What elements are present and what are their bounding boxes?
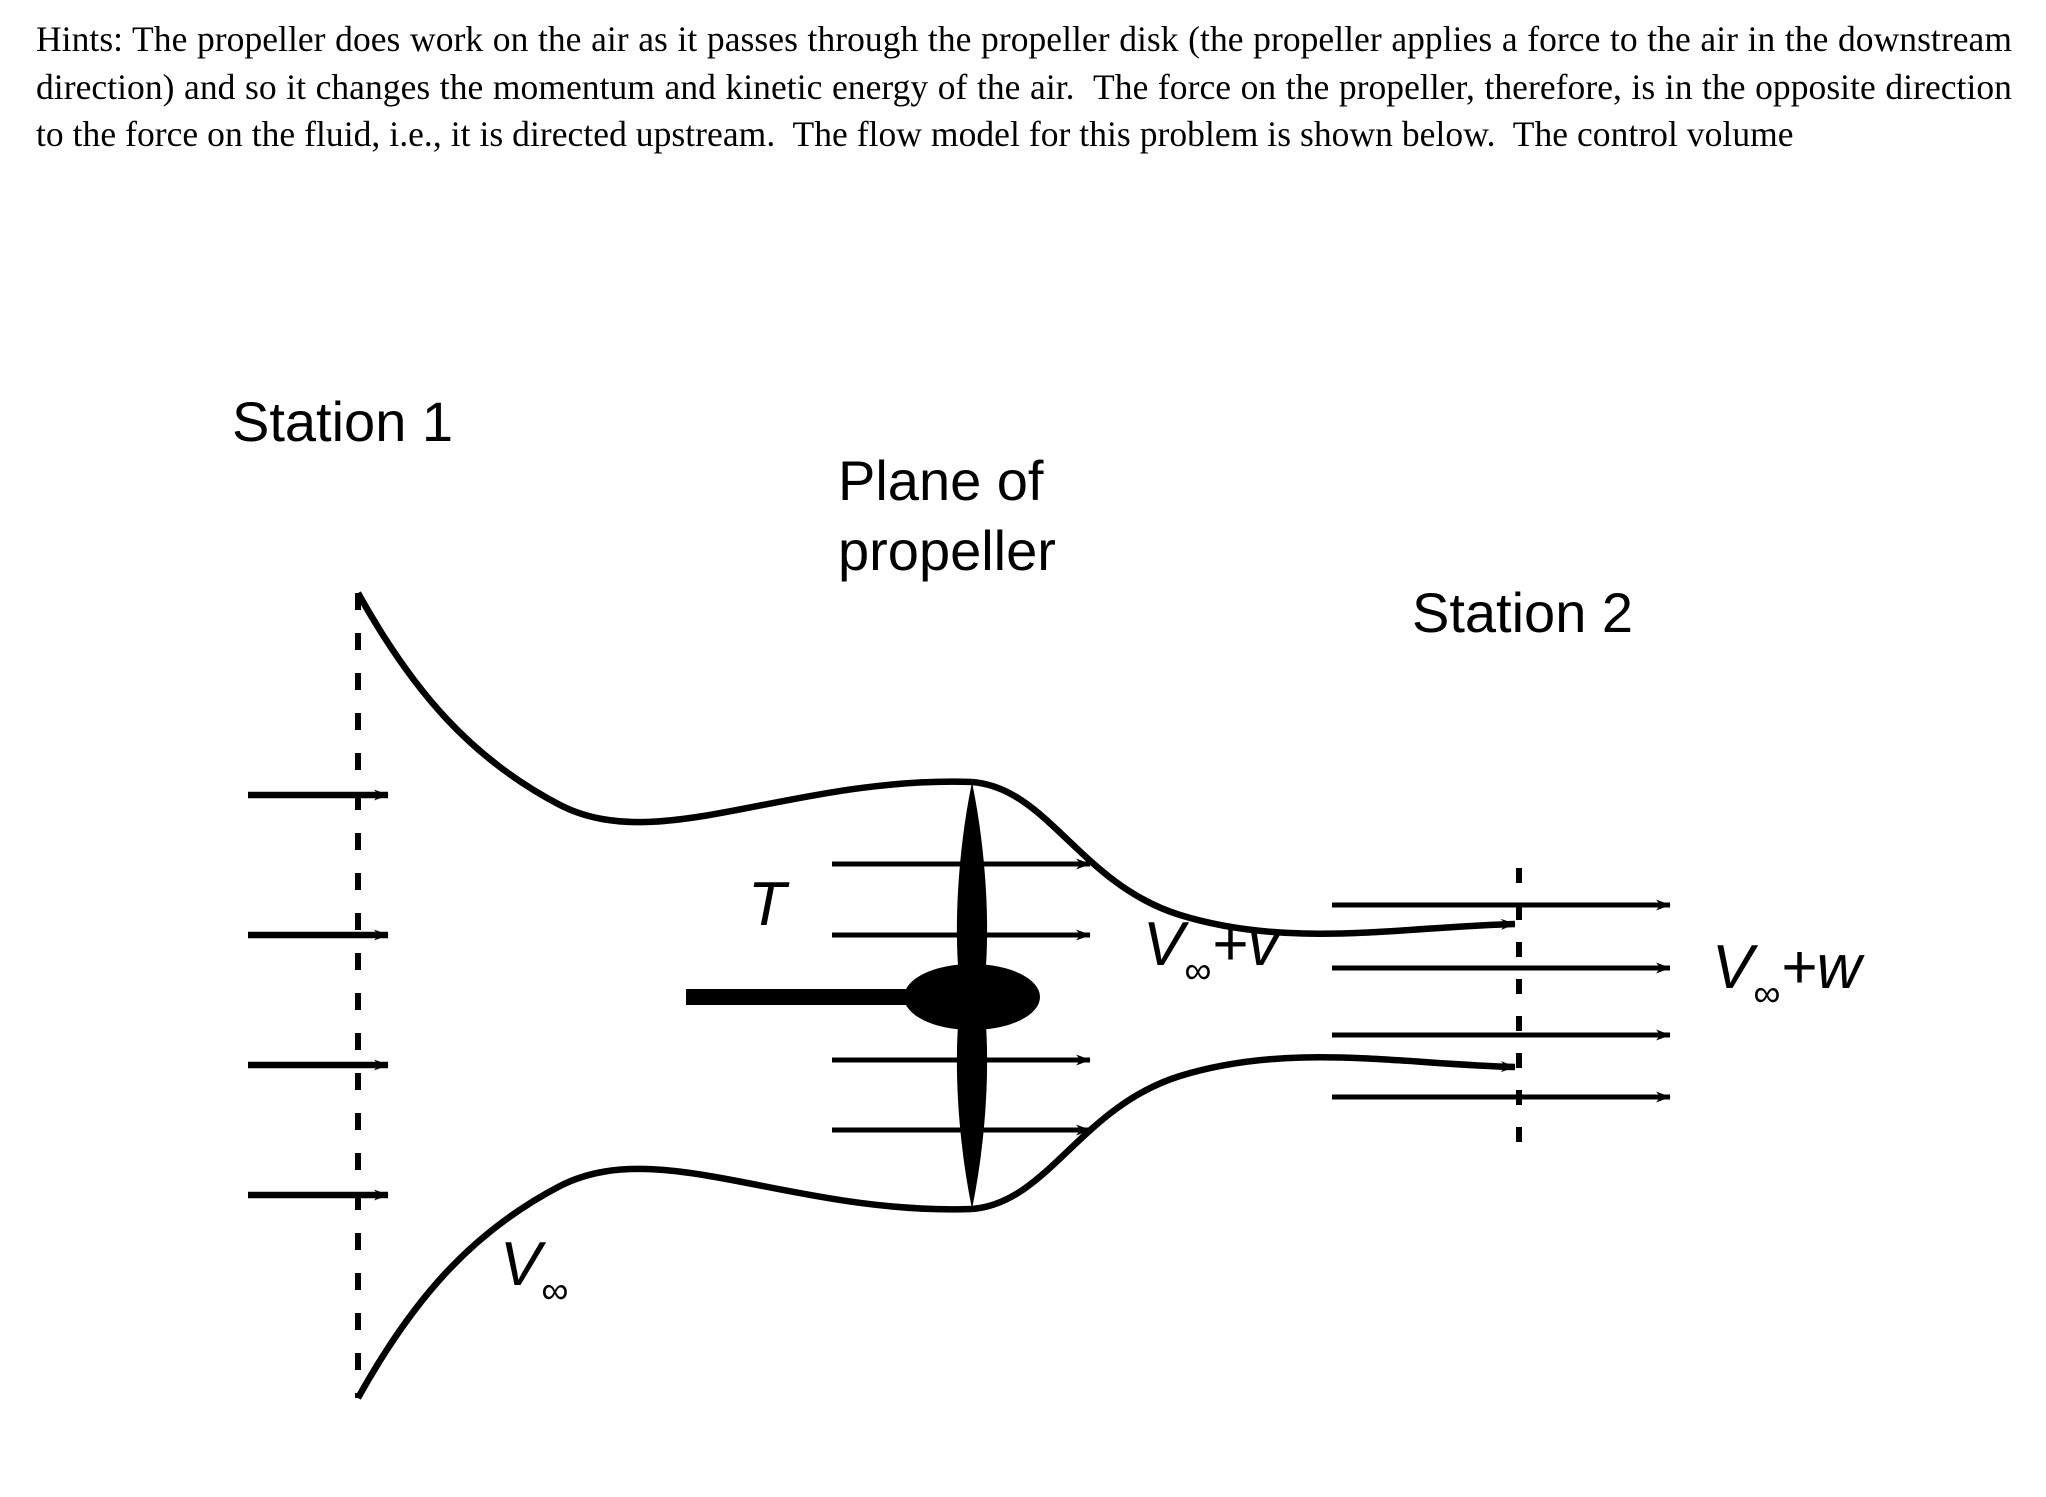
page-root: Hints: The propeller does work on the ai… (0, 0, 2046, 1497)
wake-velocity-subscript: ∞ (1753, 973, 1780, 1015)
disk-velocity-subscript: ∞ (1184, 950, 1211, 992)
plane-of-propeller-line-1: Plane of (838, 449, 1044, 512)
freestream-velocity-subscript: ∞ (541, 1270, 568, 1312)
hint-paragraph: Hints: The propeller does work on the ai… (36, 16, 2012, 159)
disk-velocity-symbol: V (1143, 910, 1190, 979)
wake-velocity-symbol: V (1712, 933, 1759, 1002)
wake-velocity-suffix: +w (1780, 933, 1865, 1002)
station-1-label: Station 1 (232, 390, 453, 453)
thrust-label: T (748, 870, 790, 939)
disk-velocity-suffix: +v (1211, 910, 1281, 979)
flow-model-svg: Station 1 V∞ Plane (0, 260, 2046, 1490)
propeller-flow-diagram: Station 1 V∞ Plane (0, 260, 2046, 1490)
station-2-label: Station 2 (1412, 581, 1633, 644)
plane-of-propeller-line-2: propeller (838, 519, 1056, 582)
freestream-velocity-symbol: V (500, 1230, 547, 1299)
